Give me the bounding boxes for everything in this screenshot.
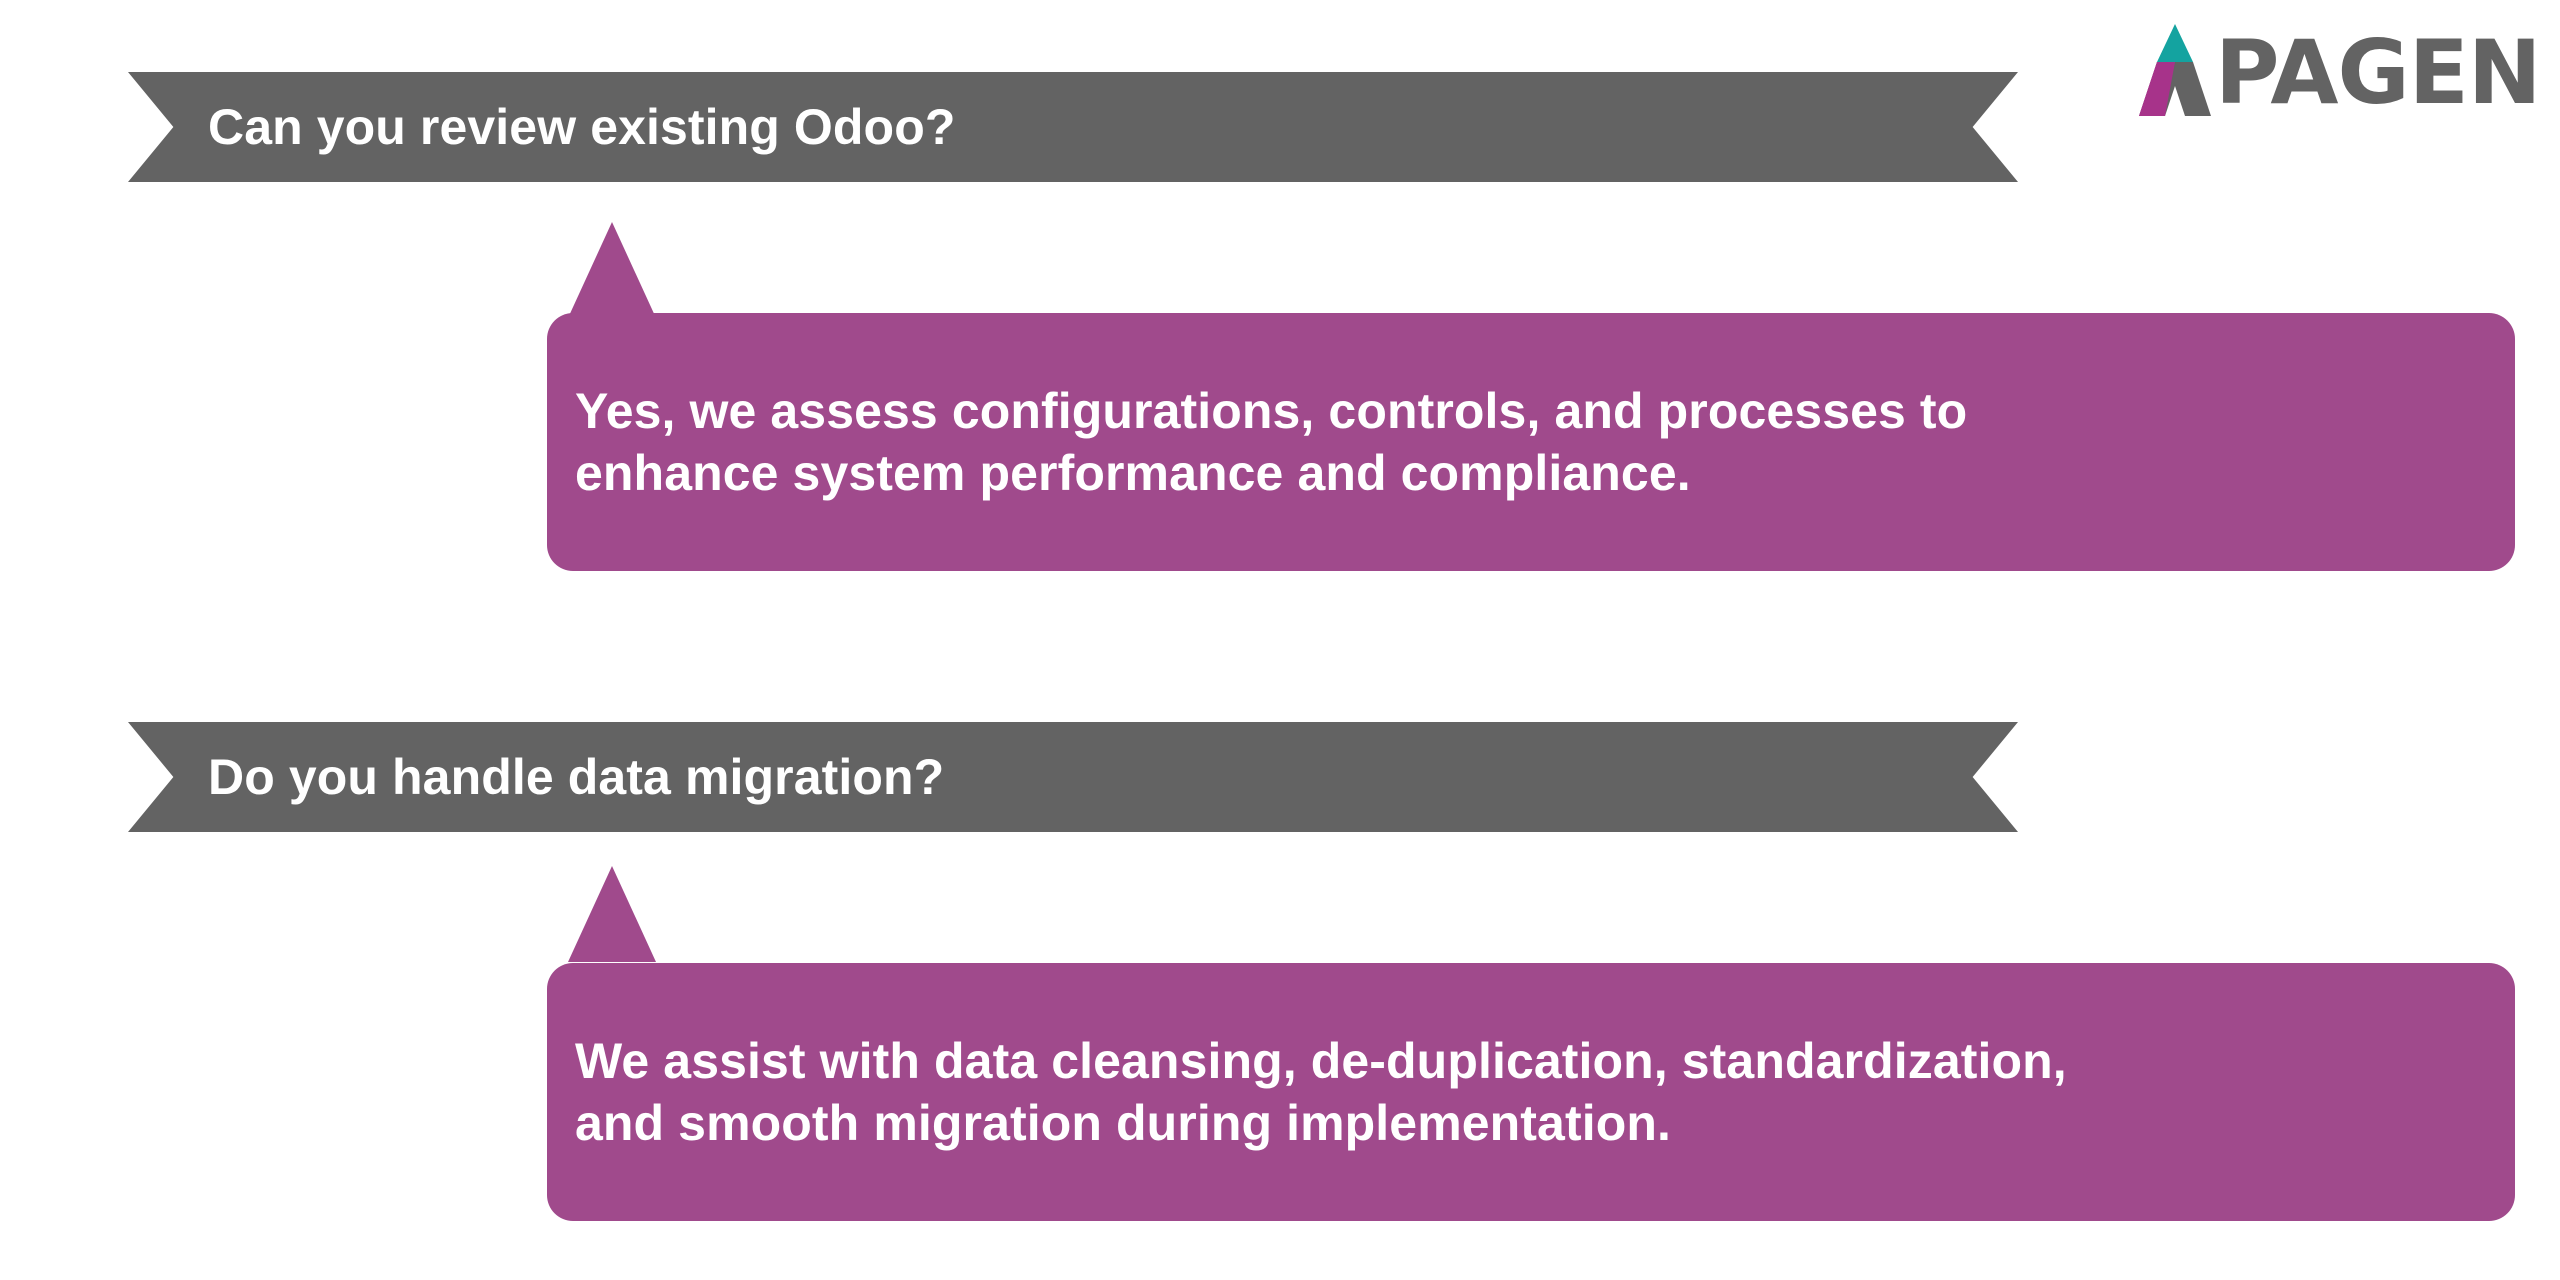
apagen-a-mark-icon: [2125, 20, 2225, 120]
answer-tail-1: [568, 222, 656, 318]
question-text-1: Can you review existing Odoo?: [128, 98, 955, 156]
apagen-wordmark: PAGEN: [2215, 29, 2541, 117]
apagen-logo: PAGEN: [2125, 8, 2545, 120]
question-ribbon-2: Do you handle data migration?: [128, 722, 2018, 832]
answer-text-2: We assist with data cleansing, de-duplic…: [547, 1030, 2085, 1154]
answer-bubble-2: We assist with data cleansing, de-duplic…: [547, 963, 2515, 1221]
question-text-2: Do you handle data migration?: [128, 748, 944, 806]
answer-tail-2: [568, 866, 656, 962]
faq-slide: PAGEN Can you review existing Odoo? Yes,…: [0, 0, 2560, 1280]
answer-text-1: Yes, we assess configurations, controls,…: [547, 380, 1985, 504]
question-ribbon-1: Can you review existing Odoo?: [128, 72, 2018, 182]
answer-bubble-1: Yes, we assess configurations, controls,…: [547, 313, 2515, 571]
